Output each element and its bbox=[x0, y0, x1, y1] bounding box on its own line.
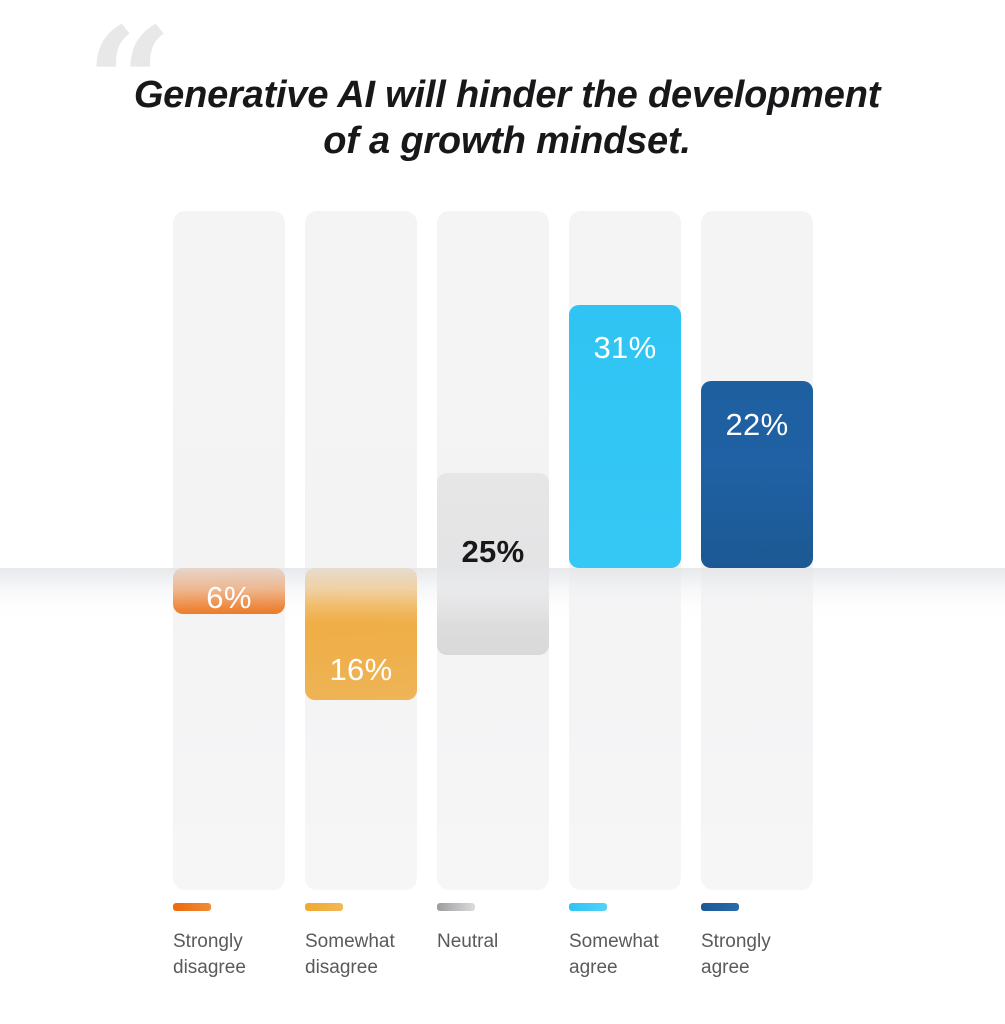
legend-label-somewhat-disagree: Somewhat disagree bbox=[305, 929, 427, 981]
legend-item-neutral[interactable]: Neutral bbox=[437, 903, 557, 955]
legend-item-somewhat-disagree[interactable]: Somewhat disagree bbox=[305, 903, 427, 981]
legend-swatch-neutral bbox=[437, 903, 475, 911]
chart-page: “ Generative AI will hinder the developm… bbox=[0, 0, 1005, 1024]
legend-label-somewhat-agree: Somewhat agree bbox=[569, 929, 691, 981]
legend-swatch-strongly-agree bbox=[701, 903, 739, 911]
legend-item-strongly-disagree[interactable]: Strongly disagree bbox=[173, 903, 291, 981]
bar-value-strongly-agree: 22% bbox=[701, 407, 813, 443]
legend-item-strongly-agree[interactable]: Strongly agree bbox=[701, 903, 819, 981]
bar-value-strongly-disagree: 6% bbox=[173, 580, 285, 616]
legend-label-strongly-agree: Strongly agree bbox=[701, 929, 819, 981]
bar-value-neutral: 25% bbox=[437, 534, 549, 570]
bar-chart: 6% 16% 25% 31% 22% bbox=[0, 0, 1005, 1024]
legend-swatch-strongly-disagree bbox=[173, 903, 211, 911]
legend-label-neutral: Neutral bbox=[437, 929, 557, 955]
bar-value-somewhat-disagree: 16% bbox=[305, 652, 417, 688]
legend-label-strongly-disagree: Strongly disagree bbox=[173, 929, 291, 981]
legend-swatch-somewhat-agree bbox=[569, 903, 607, 911]
legend-swatch-somewhat-disagree bbox=[305, 903, 343, 911]
bar-track-strongly-disagree bbox=[173, 211, 285, 890]
bar-track-somewhat-disagree bbox=[305, 211, 417, 890]
bar-value-somewhat-agree: 31% bbox=[569, 330, 681, 366]
legend-item-somewhat-agree[interactable]: Somewhat agree bbox=[569, 903, 691, 981]
